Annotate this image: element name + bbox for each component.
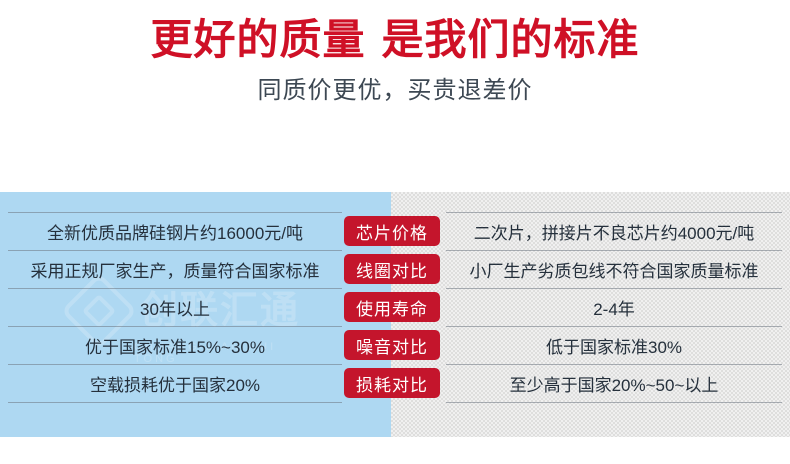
- row-left-value: 30年以上: [8, 288, 342, 326]
- comparison-infographic: 更好的质量是我们的标准 同质价更优，买贵退差价 创联汇通及国际品牌企业 VS 小…: [0, 0, 790, 464]
- comparison-rows: 全新优质品牌硅钢片约16000元/吨芯片价格二次片，拼接片不良芯片约4000元/…: [0, 192, 790, 437]
- page-title-part1: 更好的质量: [150, 16, 365, 63]
- table-row: 全新优质品牌硅钢片约16000元/吨芯片价格二次片，拼接片不良芯片约4000元/…: [0, 212, 790, 250]
- row-category-badge: 损耗对比: [344, 368, 440, 398]
- row-left-value: 全新优质品牌硅钢片约16000元/吨: [8, 212, 342, 250]
- row-right-value: 二次片，拼接片不良芯片约4000元/吨: [446, 212, 782, 250]
- row-left-value: 采用正规厂家生产，质量符合国家标准: [8, 250, 342, 288]
- row-divider: [8, 402, 342, 403]
- row-right-value: 2-4年: [446, 288, 782, 326]
- row-category-badge: 线圈对比: [344, 254, 440, 284]
- table-row: 空载损耗优于国家20%损耗对比至少高于国家20%~50~以上: [0, 364, 790, 402]
- table-row: 30年以上使用寿命2-4年: [0, 288, 790, 326]
- row-category-badge: 使用寿命: [344, 292, 440, 322]
- page-title: 更好的质量是我们的标准: [0, 18, 790, 62]
- row-divider: [446, 402, 782, 403]
- row-right-value: 至少高于国家20%~50~以上: [446, 364, 782, 402]
- row-category-badge: 芯片价格: [344, 216, 440, 246]
- page-subtitle: 同质价更优，买贵退差价: [0, 70, 790, 105]
- row-category-badge: 噪音对比: [344, 330, 440, 360]
- table-row: 优于国家标准15%~30%噪音对比低于国家标准30%: [0, 326, 790, 364]
- table-row: 采用正规厂家生产，质量符合国家标准线圈对比小厂生产劣质包线不符合国家质量标准: [0, 250, 790, 288]
- comparison-table: 创联汇通 CHUANG LIAN HUI TONG 全新优质品牌硅钢片约1600…: [0, 192, 790, 437]
- row-left-value: 空载损耗优于国家20%: [8, 364, 342, 402]
- row-left-value: 优于国家标准15%~30%: [8, 326, 342, 364]
- row-right-value: 低于国家标准30%: [446, 326, 782, 364]
- versus-band: 创联汇通及国际品牌企业 VS 小规模或小作坊生产企业: [0, 106, 790, 188]
- row-right-value: 小厂生产劣质包线不符合国家质量标准: [446, 250, 782, 288]
- page-title-part2: 是我们的标准: [382, 16, 640, 63]
